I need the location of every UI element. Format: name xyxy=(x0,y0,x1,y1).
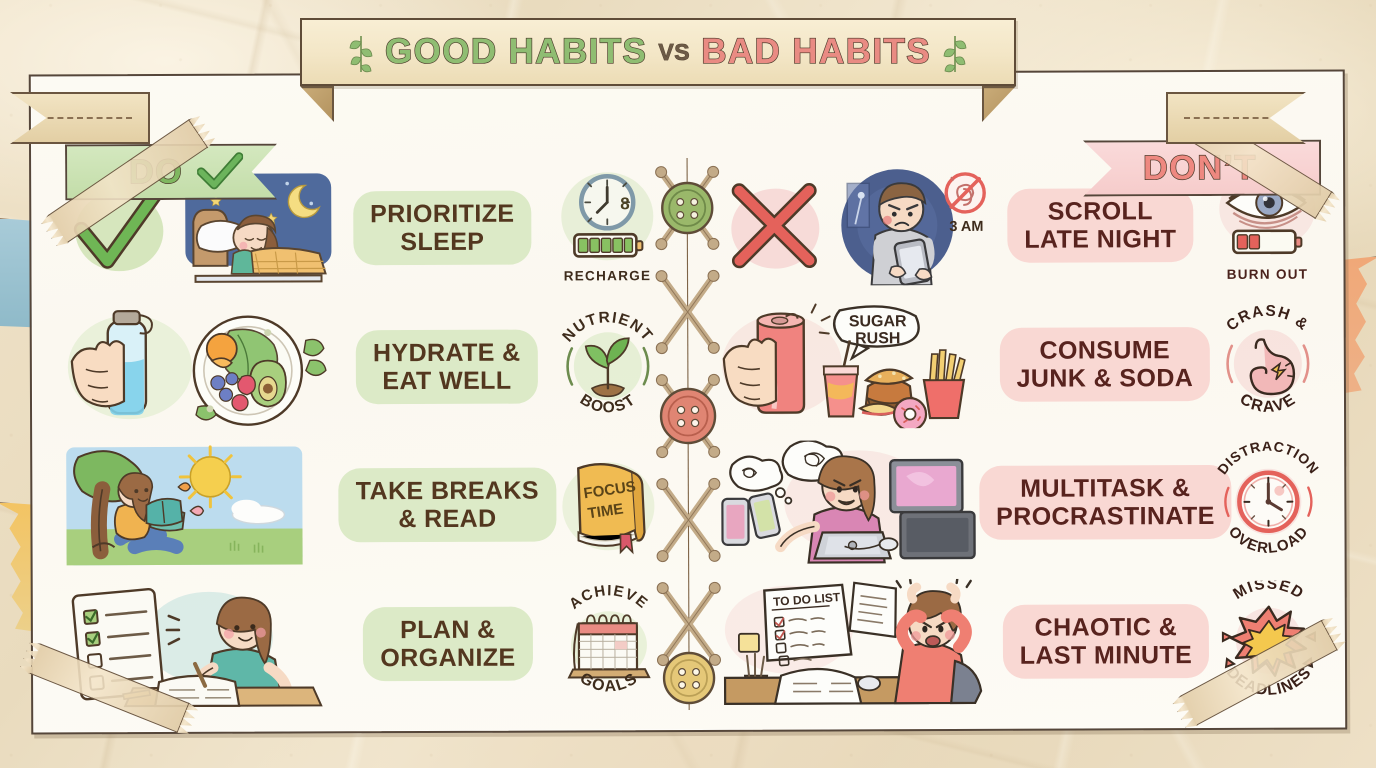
chaotic-last-minute-art: TO DO LIST xyxy=(719,579,1005,706)
svg-text:ACHIEVE: ACHIEVE xyxy=(566,583,652,613)
panicking-girl-at-desk-illustration xyxy=(895,579,981,703)
bad-label-consume-junk-soda: CONSUME JUNK & SODA xyxy=(999,327,1210,402)
label-line-2: LATE NIGHT xyxy=(1024,225,1176,254)
bad-label-wrap-4: CHAOTIC & LAST MINUTE xyxy=(1005,604,1207,679)
label-line-1: PRIORITIZE xyxy=(370,200,514,229)
bad-label-scroll-late-night: SCROLL LATE NIGHT xyxy=(1007,188,1193,263)
bad-label-wrap-2: CONSUME JUNK & SODA xyxy=(1004,327,1206,402)
label-line-2: LAST MINUTE xyxy=(1020,641,1193,670)
good-label-wrap-3: TAKE BREAKS & READ xyxy=(348,468,546,543)
divider-button-yellow xyxy=(664,653,714,703)
consume-junk-soda-art: SUGAR RUSH xyxy=(718,302,1004,429)
title-bad-habits: BAD HABITS xyxy=(701,32,931,72)
book-in-hands xyxy=(146,499,182,526)
center-stitched-divider xyxy=(639,158,737,706)
good-label-take-breaks-read: TAKE BREAKS & READ xyxy=(339,468,556,543)
badge-arc-top-achieve: ACHIEVE xyxy=(566,583,652,613)
label-line-1: PLAN & xyxy=(380,615,515,644)
bad-label-wrap-1: SCROLL LATE NIGHT xyxy=(995,188,1205,263)
label-line-2: EAT WELL xyxy=(373,366,521,395)
pink-clock-icon: DISTRACTION OVERLOAD xyxy=(1208,442,1328,562)
good-row-hydrate-eat-well: HYDRATE & EAT WELL xyxy=(58,297,673,438)
label-line-1: TAKE BREAKS xyxy=(356,477,539,506)
good-label-hydrate-eat-well: HYDRATE & EAT WELL xyxy=(356,329,538,404)
infographic-board: DO DON’T xyxy=(29,69,1348,734)
clock-value: 8 xyxy=(620,194,630,213)
label-line-2: PROCRASTINATE xyxy=(996,502,1215,531)
no-sleep-icon xyxy=(946,174,984,212)
badge-distraction-overload: DISTRACTION OVERLOAD xyxy=(1206,442,1330,562)
stomach-circle-icon: CRASH & CRAVE xyxy=(1208,303,1328,423)
stressed-girl-with-devices-illustration xyxy=(718,440,1004,567)
good-label-wrap-1: PRIORITIZE SLEEP xyxy=(339,191,545,266)
bad-label-multitask-procrastinate: MULTITASK & PROCRASTINATE xyxy=(979,465,1232,540)
badge-arc-top-missed: MISSED xyxy=(1230,580,1307,603)
check-icon xyxy=(197,152,243,192)
good-habits-column: PRIORITIZE SLEEP 8 xyxy=(57,158,673,714)
leaf-sprig-right-icon xyxy=(942,30,968,74)
healthy-food-plate-illustration xyxy=(194,316,326,425)
label-line-1: CONSUME xyxy=(1016,336,1193,365)
annotation-3am: 3 AM xyxy=(949,219,983,235)
svg-text:MISSED: MISSED xyxy=(1230,580,1307,603)
boy-on-phone-at-night-illustration: 3 AM xyxy=(827,167,995,286)
badge-crash-crave: CRASH & CRAVE xyxy=(1206,303,1330,423)
good-label-prioritize-sleep: PRIORITIZE SLEEP xyxy=(353,191,532,266)
hydrate-eat-well-art xyxy=(62,304,348,431)
badge-caption-burn-out: BURN OUT xyxy=(1227,266,1309,281)
bad-label-chaotic-last-minute: CHAOTIC & LAST MINUTE xyxy=(1003,604,1210,679)
leaf-sprig-left-icon xyxy=(348,30,374,74)
good-row-take-breaks-read: TAKE BREAKS & READ FOCUS TIME xyxy=(58,435,673,576)
label-line-1: MULTITASK & xyxy=(996,474,1215,503)
good-label-wrap-4: PLAN & ORGANIZE xyxy=(349,606,547,681)
label-line-2: JUNK & SODA xyxy=(1017,364,1194,393)
girl-reading-under-tree-illustration xyxy=(62,443,348,570)
bubble-line-2: RUSH xyxy=(855,330,900,347)
badge-caption-recharge: RECHARGE xyxy=(564,268,652,283)
title-ribbon: GOOD HABITS VS BAD HABITS xyxy=(300,18,1016,86)
good-label-plan-organize: PLAN & ORGANIZE xyxy=(363,606,532,681)
junk-food-pile-illustration xyxy=(824,340,965,429)
title-ribbon-body: GOOD HABITS VS BAD HABITS xyxy=(300,18,1016,86)
title-vs: VS xyxy=(658,39,690,66)
red-cross-icon xyxy=(719,171,831,283)
bubble-line-1: SUGAR xyxy=(849,313,907,330)
title-good-habits: GOOD HABITS xyxy=(385,32,647,72)
bad-row-consume-junk-soda: SUGAR RUSH xyxy=(714,294,1331,435)
bad-habits-column: 3 AM SCROLL LATE NIGHT xyxy=(713,156,1331,712)
divider-button-red xyxy=(661,389,715,443)
divider-button-green xyxy=(662,183,712,233)
good-label-wrap-2: HYDRATE & EAT WELL xyxy=(348,329,546,404)
label-line-1: CHAOTIC & xyxy=(1020,613,1193,642)
label-line-2: SLEEP xyxy=(370,228,514,257)
label-line-1: HYDRATE & xyxy=(373,338,521,367)
label-line-2: ORGANIZE xyxy=(380,643,515,672)
label-line-2: & READ xyxy=(356,505,539,534)
label-line-1: SCROLL xyxy=(1024,197,1176,226)
bad-row-multitask-procrastinate: MULTITASK & PROCRASTINATE xyxy=(714,433,1331,574)
bad-label-wrap-3: MULTITASK & PROCRASTINATE xyxy=(1004,465,1206,540)
